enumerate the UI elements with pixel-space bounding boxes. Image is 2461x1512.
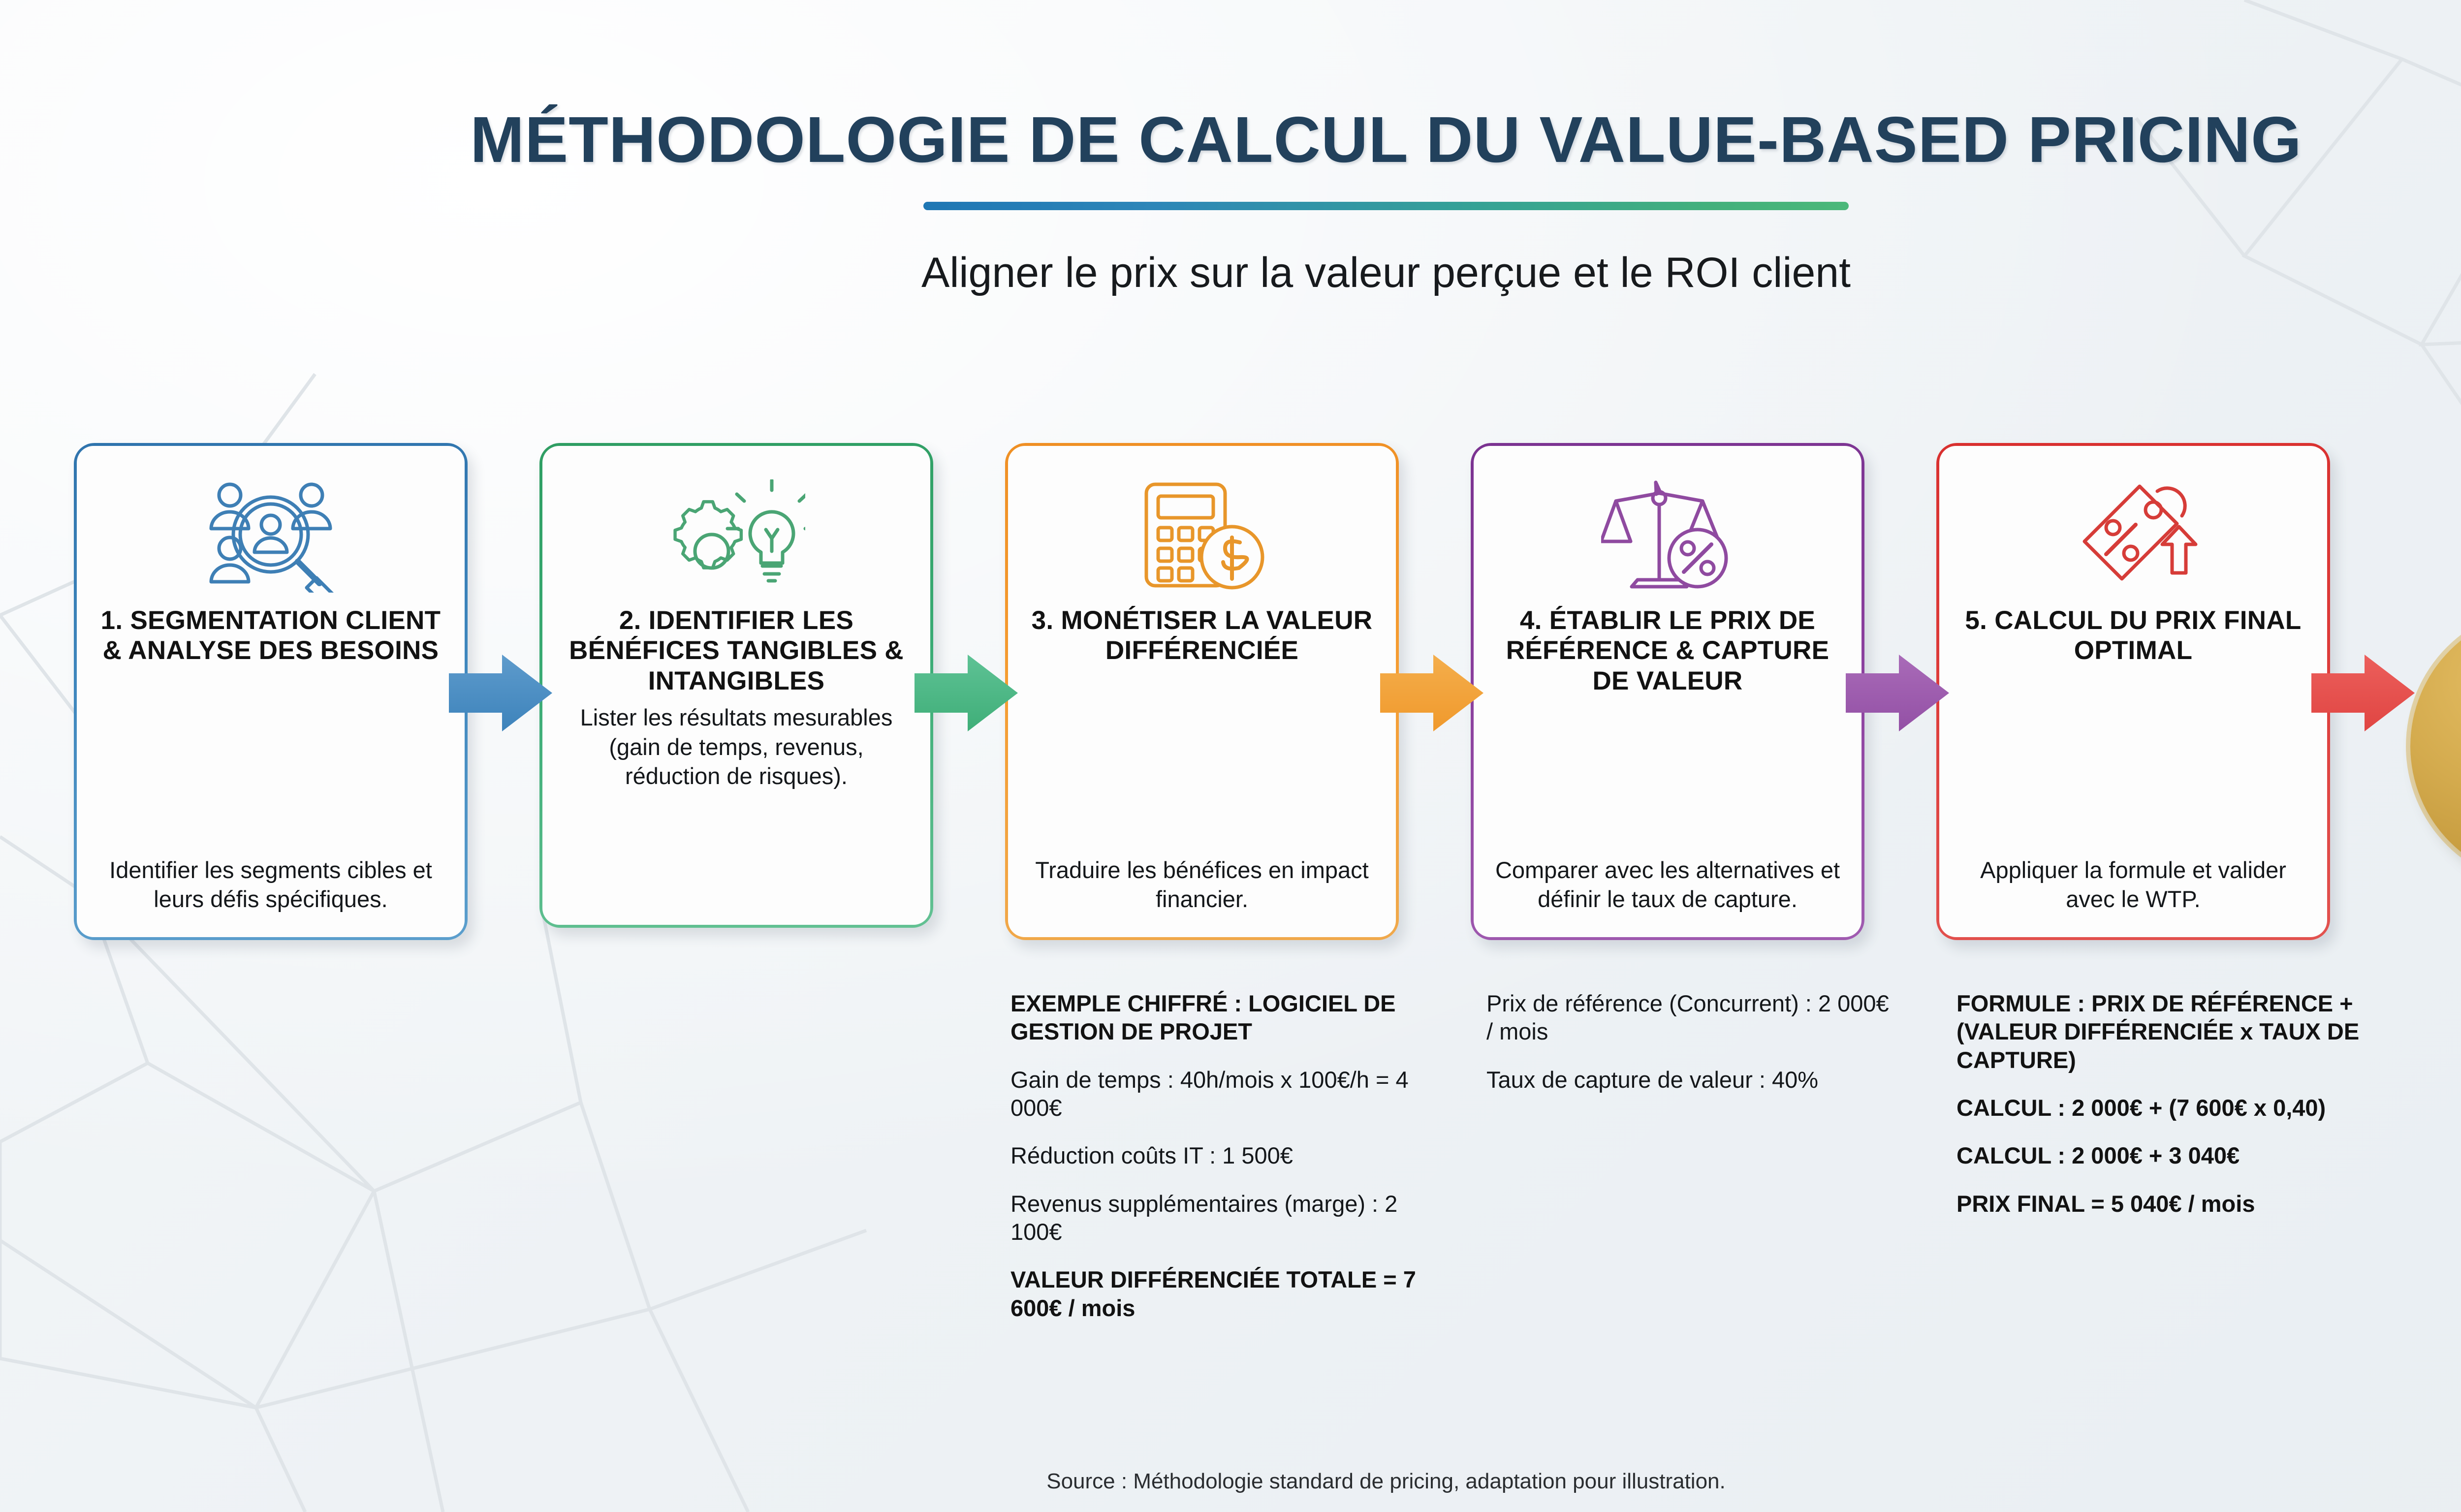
detail-line: CALCUL : 2 000€ + (7 600€ x 0,40) xyxy=(1956,1094,2365,1122)
step-description: Identifier les segments cibles et leurs … xyxy=(94,855,448,917)
gear-lightbulb-icon xyxy=(667,470,805,602)
step-card-2[interactable]: 2. IDENTIFIER LES BÉNÉFICES TANGIBLES & … xyxy=(539,443,933,928)
page-title: MÉTHODOLOGIE DE CALCUL DU VALUE-BASED PR… xyxy=(0,107,2461,172)
step-title: 3. MONÉTISER LA VALEUR DIFFÉRENCIÉE xyxy=(1025,605,1379,666)
detail-heading: EXEMPLE CHIFFRÉ : LOGICIEL DE GESTION DE… xyxy=(1010,989,1453,1046)
calculator-dollar-icon xyxy=(1136,470,1268,602)
people-magnifier-icon xyxy=(199,470,342,602)
arrow-connector-3 xyxy=(1380,639,1483,747)
process-flow: 1. SEGMENTATION CLIENT & ANALYSE DES BES… xyxy=(0,443,2461,965)
arrow-connector-4 xyxy=(1846,639,1949,747)
step-card-1[interactable]: 1. SEGMENTATION CLIENT & ANALYSE DES BES… xyxy=(74,443,468,940)
arrow-connector-1 xyxy=(449,639,552,747)
detail-block-step-4: Prix de référence (Concurrent) : 2 000€ … xyxy=(1486,989,1895,1113)
detail-line: Taux de capture de valeur : 40% xyxy=(1486,1066,1895,1094)
step-title: 2. IDENTIFIER LES BÉNÉFICES TANGIBLES & … xyxy=(559,605,914,696)
detail-line: CALCUL : 2 000€ + 3 040€ xyxy=(1956,1141,2365,1169)
source-footer: Source : Méthodologie standard de pricin… xyxy=(0,1469,2461,1494)
page-subtitle: Aligner le prix sur la valeur perçue et … xyxy=(0,249,2461,297)
detail-line: Réduction coûts IT : 1 500€ xyxy=(1010,1141,1453,1169)
price-tag-arrow-icon xyxy=(2066,470,2201,602)
step-card-3[interactable]: 3. MONÉTISER LA VALEUR DIFFÉRENCIÉE Trad… xyxy=(1005,443,1399,940)
detail-line: Revenus supplémentaires (marge) : 2 100€ xyxy=(1010,1190,1453,1246)
step-description: Lister les résultats mesurables (gain de… xyxy=(559,703,914,794)
detail-block-step-5: FORMULE : PRIX DE RÉFÉRENCE + (VALEUR DI… xyxy=(1956,989,2365,1237)
step-title: 1. SEGMENTATION CLIENT & ANALYSE DES BES… xyxy=(94,605,448,666)
detail-heading: FORMULE : PRIX DE RÉFÉRENCE + (VALEUR DI… xyxy=(1956,989,2365,1074)
detail-final-price: PRIX FINAL = 5 040€ / mois xyxy=(1956,1190,2365,1218)
arrow-connector-2 xyxy=(915,639,1018,747)
scales-percent-icon xyxy=(1601,470,1734,602)
step-title: 4. ÉTABLIR LE PRIX DE RÉFÉRENCE & CAPTUR… xyxy=(1490,605,1845,696)
step-card-5[interactable]: 5. CALCUL DU PRIX FINAL OPTIMAL Applique… xyxy=(1936,443,2330,940)
step-description: Appliquer la formule et valider avec le … xyxy=(1956,855,2310,917)
title-divider xyxy=(923,202,1849,210)
step-card-4[interactable]: 4. ÉTABLIR LE PRIX DE RÉFÉRENCE & CAPTUR… xyxy=(1471,443,1864,940)
step-description: Traduire les bénéfices en impact financi… xyxy=(1025,855,1379,917)
validation-wtp-badge[interactable]: VALIDATION WTP (Willingness To Pay) xyxy=(2410,610,2461,882)
detail-block-step-3: EXEMPLE CHIFFRÉ : LOGICIEL DE GESTION DE… xyxy=(1010,989,1453,1342)
arrow-connector-5 xyxy=(2311,639,2415,747)
detail-line: Gain de temps : 40h/mois x 100€/h = 4 00… xyxy=(1010,1066,1453,1122)
detail-total: VALEUR DIFFÉRENCIÉE TOTALE = 7 600€ / mo… xyxy=(1010,1265,1453,1322)
step-description: Comparer avec les alternatives et défini… xyxy=(1490,855,1845,917)
step-title: 5. CALCUL DU PRIX FINAL OPTIMAL xyxy=(1956,605,2310,666)
header: MÉTHODOLOGIE DE CALCUL DU VALUE-BASED PR… xyxy=(0,0,2461,297)
detail-line: Prix de référence (Concurrent) : 2 000€ … xyxy=(1486,989,1895,1046)
